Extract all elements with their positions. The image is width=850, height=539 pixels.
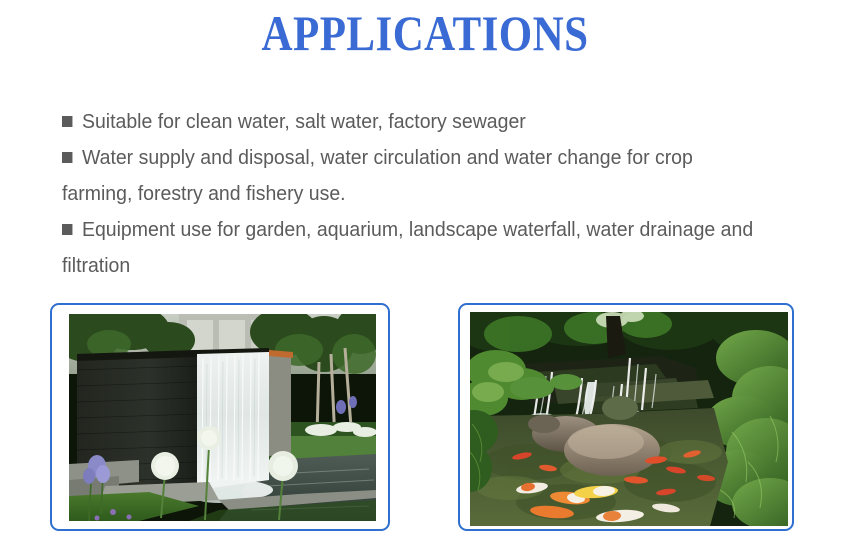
page-title: APPLICATIONS: [60, 6, 791, 60]
list-item: Equipment use for garden, aquarium, land…: [62, 212, 756, 284]
photo-koi-pond-waterfall: [470, 312, 788, 526]
applications-list: Suitable for clean water, salt water, fa…: [62, 104, 756, 284]
photo-garden-water-wall: [69, 314, 376, 521]
list-item-label: Suitable for clean water, salt water, fa…: [82, 110, 526, 133]
square-bullet-icon: [62, 152, 72, 163]
square-bullet-icon: [62, 116, 72, 127]
square-bullet-icon: [62, 224, 72, 235]
photo-frame-right: [458, 303, 794, 531]
list-item: Suitable for clean water, salt water, fa…: [62, 104, 756, 140]
photo-frame-left: [50, 303, 390, 531]
list-item: Water supply and disposal, water circula…: [62, 140, 756, 212]
list-item-label: Water supply and disposal, water circula…: [62, 146, 693, 205]
list-item-label: Equipment use for garden, aquarium, land…: [62, 218, 753, 277]
